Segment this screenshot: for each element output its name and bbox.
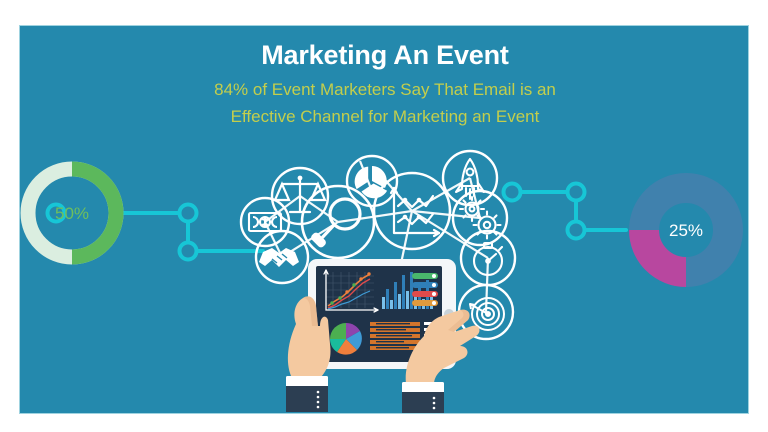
connector-left-node-2 — [180, 243, 197, 260]
dashboard-pie-chart — [330, 323, 362, 355]
connector-left-node-1 — [180, 205, 197, 222]
connector-right — [507, 192, 626, 230]
left-sleeve — [286, 386, 328, 412]
right-sleeve — [402, 392, 444, 414]
connector-right-node-2 — [568, 222, 585, 239]
right-donut-chart: 25% — [644, 188, 728, 272]
gears-icon[interactable] — [453, 191, 507, 245]
illustration: 50% 25% — [20, 26, 749, 414]
connector-right-endpoint — [504, 184, 521, 201]
left-donut-label: 50% — [55, 204, 89, 223]
left-donut-chart: 50% — [28, 169, 116, 257]
connector-right-node-1 — [568, 184, 585, 201]
slide-root: Marketing An Event 84% of Event Marketer… — [0, 0, 768, 432]
right-donut-label: 25% — [669, 221, 703, 240]
slide-panel: Marketing An Event 84% of Event Marketer… — [19, 25, 749, 414]
